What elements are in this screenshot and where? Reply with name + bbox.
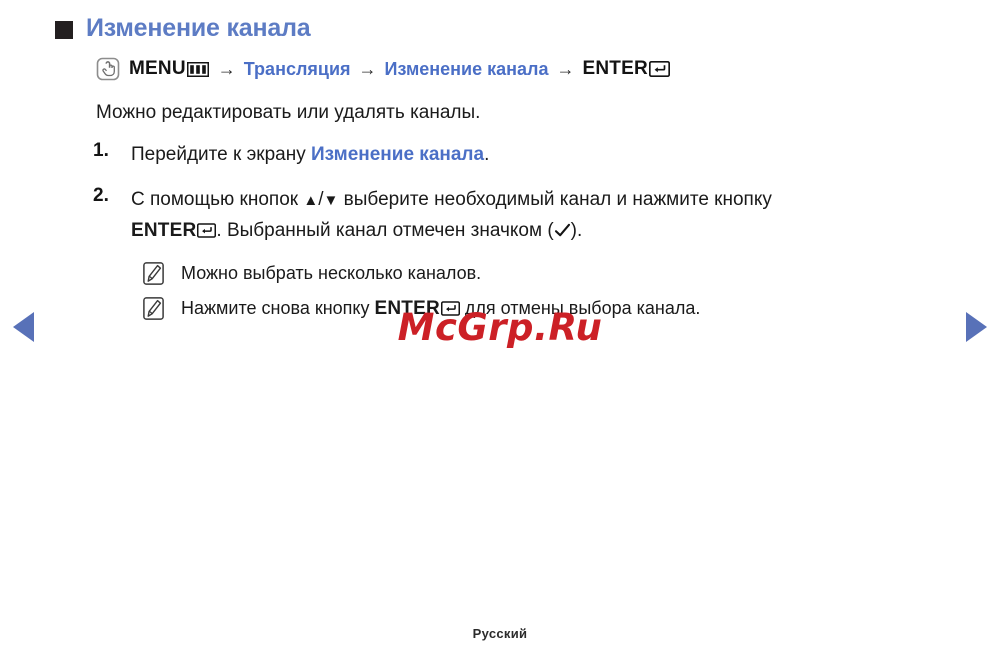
step-1-highlight: Изменение канала <box>311 144 484 165</box>
step-2-text-end: ). <box>571 220 583 241</box>
step-1-text-before: Перейдите к экрану <box>131 144 311 165</box>
list-item-step-1: 1. Перейдите к экрану Изменение канала. <box>93 140 963 171</box>
enter-label: ENTER <box>131 220 196 241</box>
steps-list: 1. Перейдите к экрану Изменение канала. … <box>93 140 963 332</box>
page-title: Изменение канала <box>86 14 311 43</box>
step-text: С помощью кнопок ▲/▼ выберите необходимы… <box>131 185 772 247</box>
page-title-row: Изменение канала <box>55 14 311 43</box>
step-number: 2. <box>93 185 131 207</box>
path-arrow-1: → <box>218 59 236 80</box>
enter-return-icon <box>197 223 216 238</box>
intro-paragraph: Можно редактировать или удалять каналы. <box>96 102 480 124</box>
manual-page: Изменение канала MENU → Трансляция → Изм… <box>0 0 1000 654</box>
hand-press-icon <box>96 57 120 81</box>
enter-return-icon <box>649 61 670 77</box>
step-number: 1. <box>93 140 131 162</box>
list-item-step-2: 2. С помощью кнопок ▲/▼ выберите необход… <box>93 185 963 247</box>
menu-grid-icon <box>187 62 209 77</box>
step-1-text-after: . <box>484 144 489 165</box>
note-pencil-icon <box>143 262 164 285</box>
path-arrow-2: → <box>359 59 377 80</box>
path-arrow-3: → <box>556 59 574 80</box>
previous-page-arrow-icon[interactable] <box>13 312 34 342</box>
note-text: Можно выбрать несколько каналов. <box>181 260 481 286</box>
step-2-text-mid: выберите необходимый канал и нажмите кно… <box>338 189 771 210</box>
checkmark-icon <box>554 223 571 238</box>
menu-label: MENU <box>129 58 186 80</box>
filled-square-bullet-icon <box>55 21 73 39</box>
note-item-1: Можно выбрать несколько каналов. <box>143 260 963 286</box>
watermark: McGrp.Ru <box>0 306 1000 349</box>
next-page-arrow-icon[interactable] <box>966 312 987 342</box>
step-text: Перейдите к экрану Изменение канала. <box>131 140 489 171</box>
step-2-text-before: С помощью кнопок <box>131 189 303 210</box>
menu-path-breadcrumb: MENU → Трансляция → Изменение канала → E… <box>96 57 670 81</box>
enter-label: ENTER <box>582 58 647 80</box>
path-segment-channel-edit: Изменение канала <box>385 59 549 80</box>
arrow-up-glyph: ▲ <box>303 192 318 209</box>
arrow-down-glyph: ▼ <box>324 192 339 209</box>
path-segment-broadcast: Трансляция <box>244 59 351 80</box>
footer-language-label: Русский <box>0 626 1000 641</box>
step-2-text-after: . Выбранный канал отмечен значком ( <box>216 220 553 241</box>
